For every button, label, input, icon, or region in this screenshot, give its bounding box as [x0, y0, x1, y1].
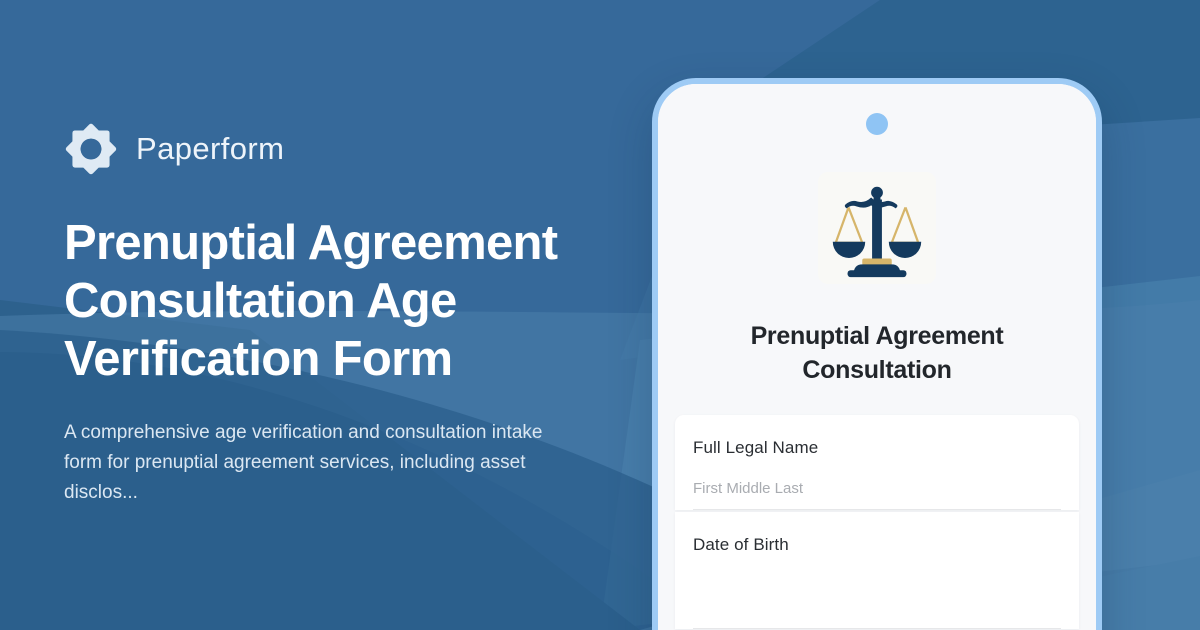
- social-share-card: Paperform Prenuptial Agreement Consultat…: [0, 0, 1200, 630]
- scales-of-justice-icon: [818, 172, 936, 284]
- page-description: A comprehensive age verification and con…: [64, 418, 574, 508]
- form-field-date-of-birth[interactable]: Date of Birth: [675, 512, 1079, 629]
- field-label: Date of Birth: [693, 535, 1061, 555]
- camera-dot-icon: [866, 113, 888, 135]
- field-label: Full Legal Name: [693, 438, 1061, 458]
- form-title: Prenuptial Agreement Consultation: [712, 320, 1042, 387]
- brand-lockup: Paperform: [64, 122, 664, 176]
- hero-content: Paperform Prenuptial Agreement Consultat…: [64, 0, 664, 630]
- field-placeholder: First Middle Last: [693, 480, 803, 497]
- brand-name: Paperform: [136, 131, 284, 167]
- phone-screen: Prenuptial Agreement Consultation Full L…: [658, 84, 1096, 630]
- phone-mockup: Prenuptial Agreement Consultation Full L…: [652, 78, 1102, 630]
- date-of-birth-input[interactable]: [693, 589, 1061, 629]
- form-fields: Full Legal Name First Middle Last Date o…: [675, 415, 1079, 630]
- full-legal-name-input[interactable]: First Middle Last: [693, 480, 1061, 510]
- paperform-logo-icon: [64, 122, 118, 176]
- page-title: Prenuptial Agreement Consultation Age Ve…: [64, 214, 609, 389]
- form-field-full-legal-name[interactable]: Full Legal Name First Middle Last: [675, 415, 1079, 510]
